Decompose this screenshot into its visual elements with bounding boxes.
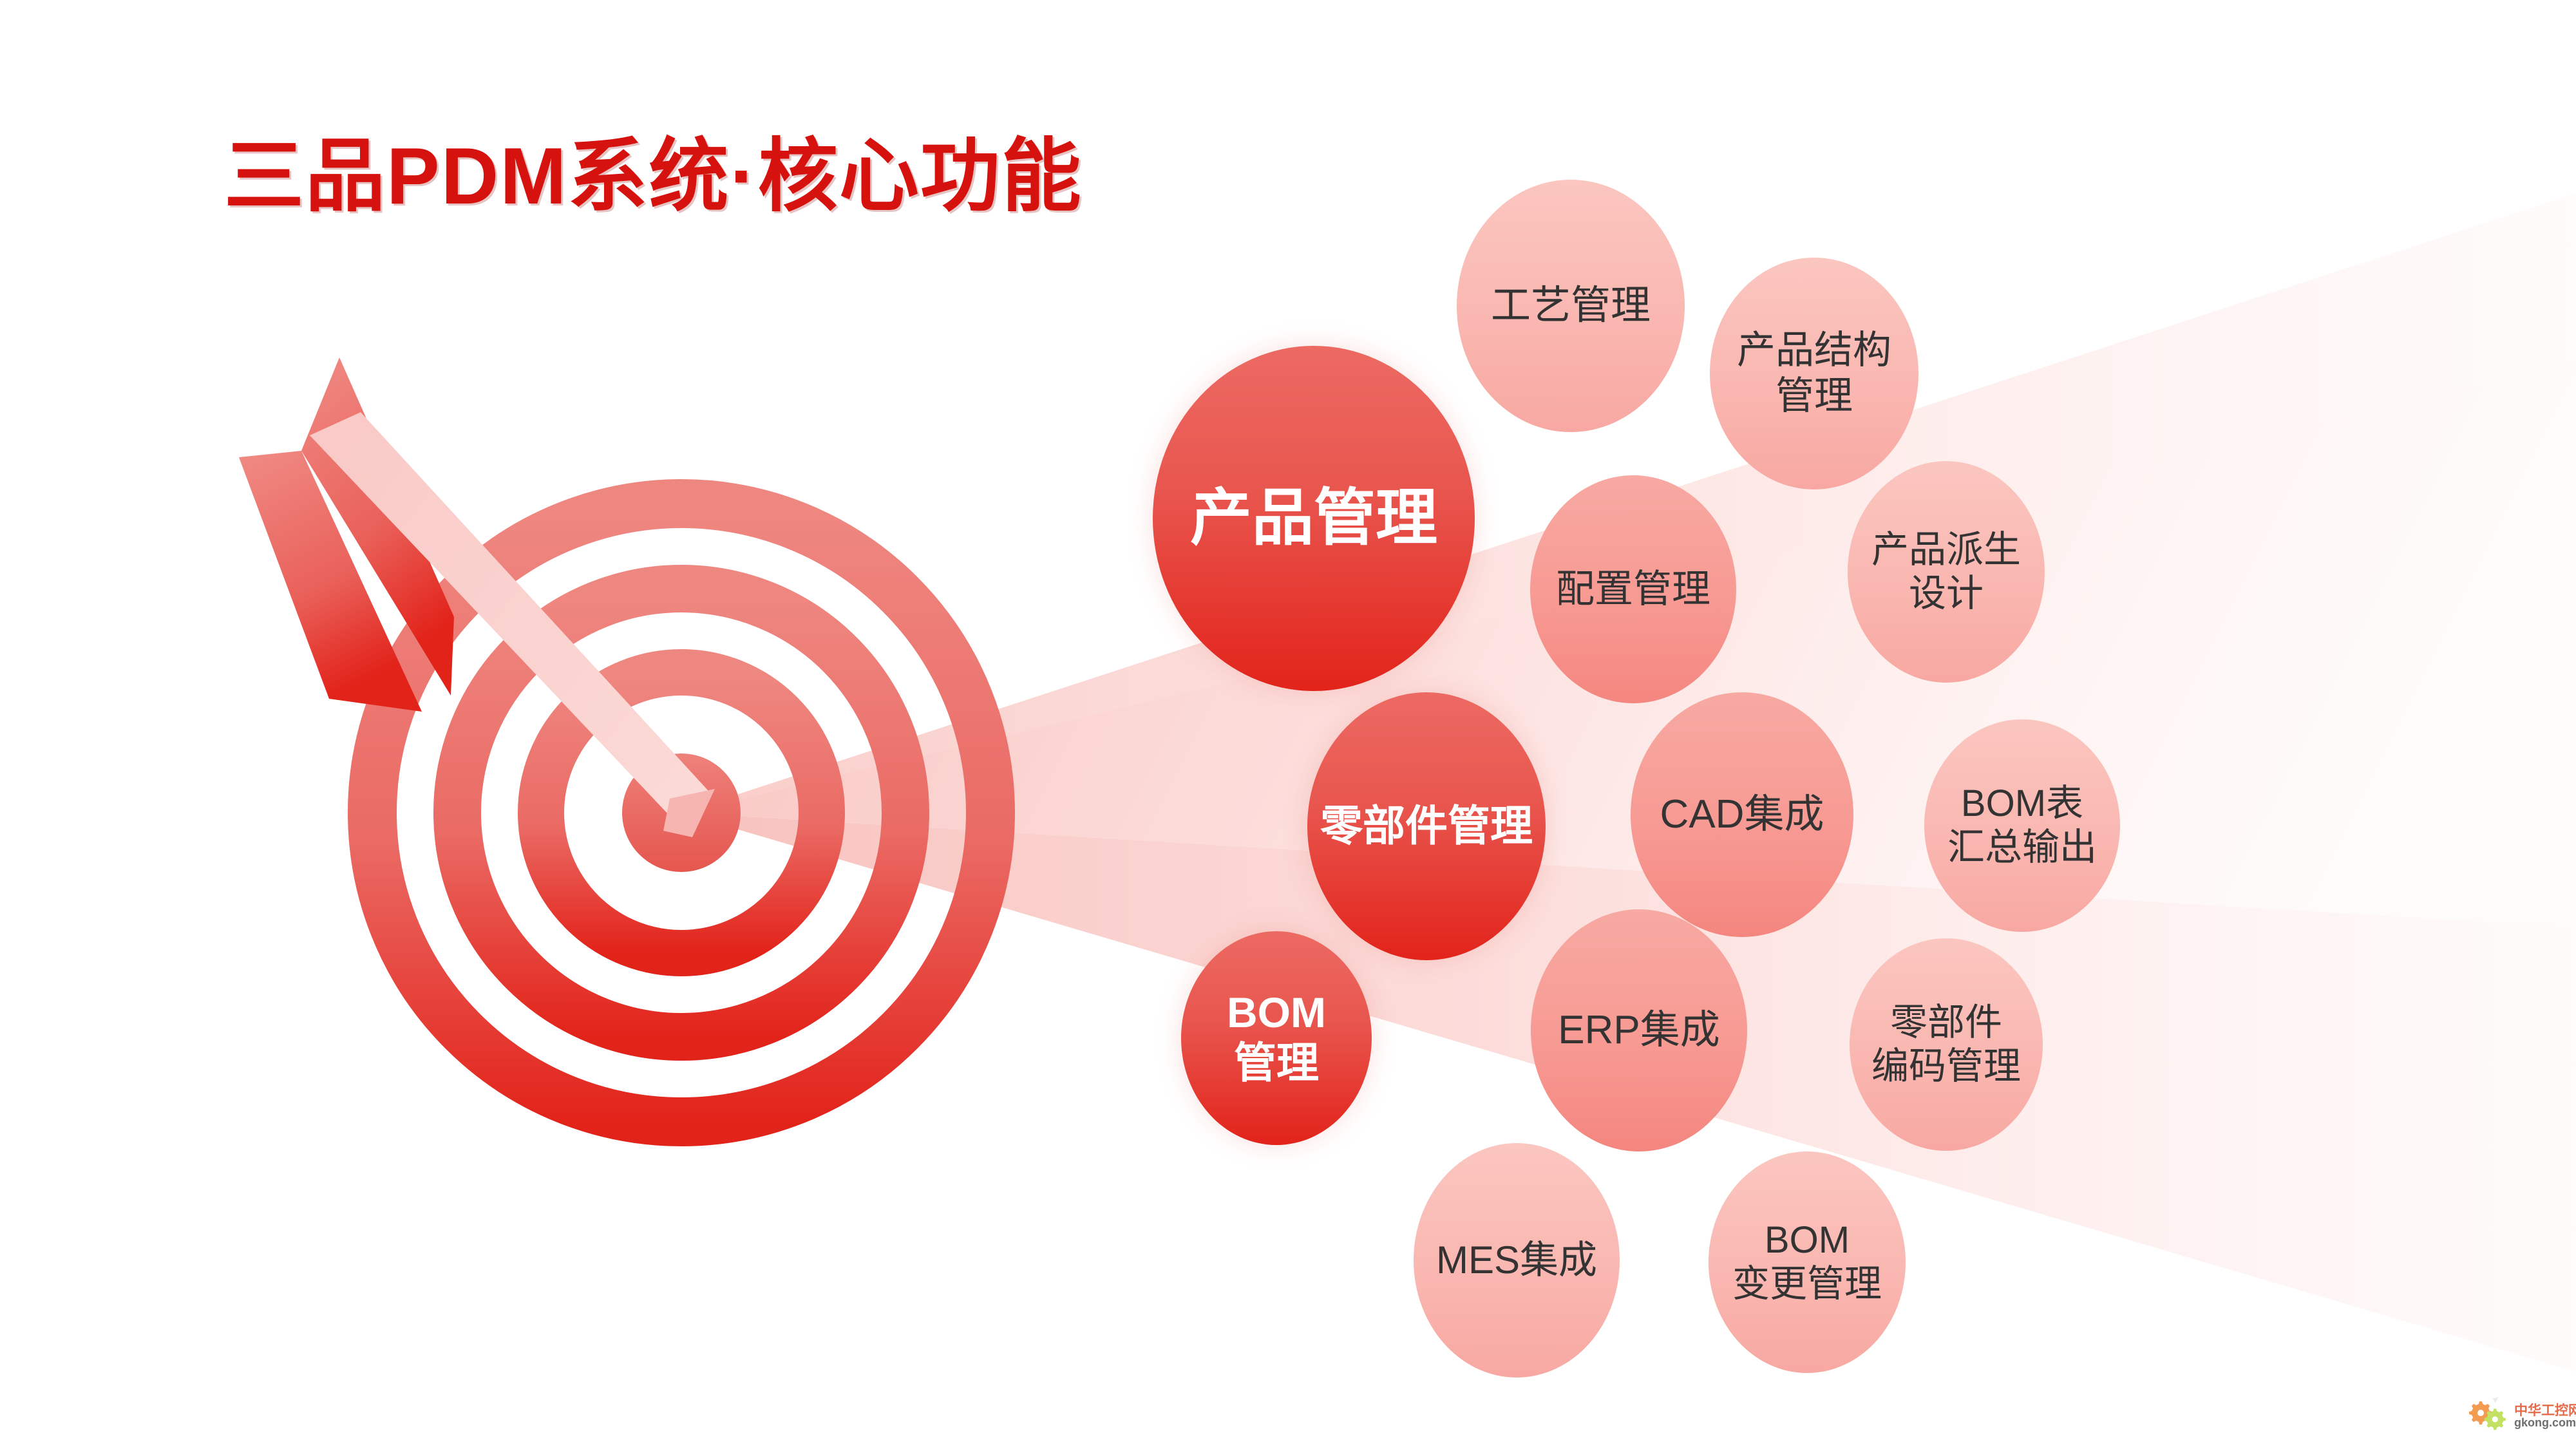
feature-bubble-label: BOM 变更管理 [1728,1218,1886,1307]
gear-pair-icon [2467,1396,2512,1432]
feature-bubble-label: 工艺管理 [1487,282,1654,329]
watermark-name-en: gkong.com [2514,1416,2576,1430]
feature-bubble-configuration-management[interactable]: 配置管理 [1530,475,1736,703]
watermark-logo: 中华工控网 gkong.com [2467,1396,2570,1439]
feature-bubble-label: 零部件管理 [1316,801,1537,851]
feature-bubble-bom-change-management[interactable]: BOM 变更管理 [1709,1151,1906,1373]
feature-bubble-mes-integration[interactable]: MES集成 [1414,1143,1620,1378]
feature-bubble-label: 零部件 编码管理 [1868,1001,2025,1089]
swoosh-icon [2492,1397,2499,1403]
feature-bubble-bom-management[interactable]: BOM 管理 [1181,931,1372,1145]
feature-bubble-label: ERP集成 [1554,1007,1723,1054]
page-title: 三品PDM系统·核心功能 [224,137,1083,216]
feature-bubble-product-derivative-design[interactable]: 产品派生 设计 [1848,461,2045,683]
feature-bubble-label: CAD集成 [1656,791,1828,838]
target-bullseye-icon [372,504,990,1122]
feature-bubble-label: BOM表 汇总输出 [1944,782,2101,870]
feature-bubble-part-code-management[interactable]: 零部件 编码管理 [1850,938,2043,1151]
feature-bubble-product-structure[interactable]: 产品结构 管理 [1710,258,1918,489]
feature-bubble-label: 配置管理 [1552,567,1714,612]
infographic-canvas: 三品PDM系统·核心功能 产品管理工艺管理产品结构 管理配置管理产品派生 设计零… [0,0,2576,1449]
feature-bubble-label: 产品结构 管理 [1733,328,1895,419]
feature-bubble-parts-management[interactable]: 零部件管理 [1307,692,1546,960]
arrow-dart-icon [239,357,715,837]
feature-bubble-process-management[interactable]: 工艺管理 [1457,180,1685,432]
feature-bubble-product-management[interactable]: 产品管理 [1153,346,1475,691]
feature-bubble-label: 产品管理 [1186,482,1441,554]
feature-bubble-cad-integration[interactable]: CAD集成 [1631,692,1853,937]
feature-bubble-label: BOM 管理 [1223,988,1330,1088]
feature-bubble-label: MES集成 [1432,1238,1601,1283]
feature-bubble-label: 产品派生 设计 [1868,528,2025,616]
feature-bubble-bom-summary-output[interactable]: BOM表 汇总输出 [1924,719,2120,932]
feature-bubble-erp-integration[interactable]: ERP集成 [1531,909,1747,1151]
